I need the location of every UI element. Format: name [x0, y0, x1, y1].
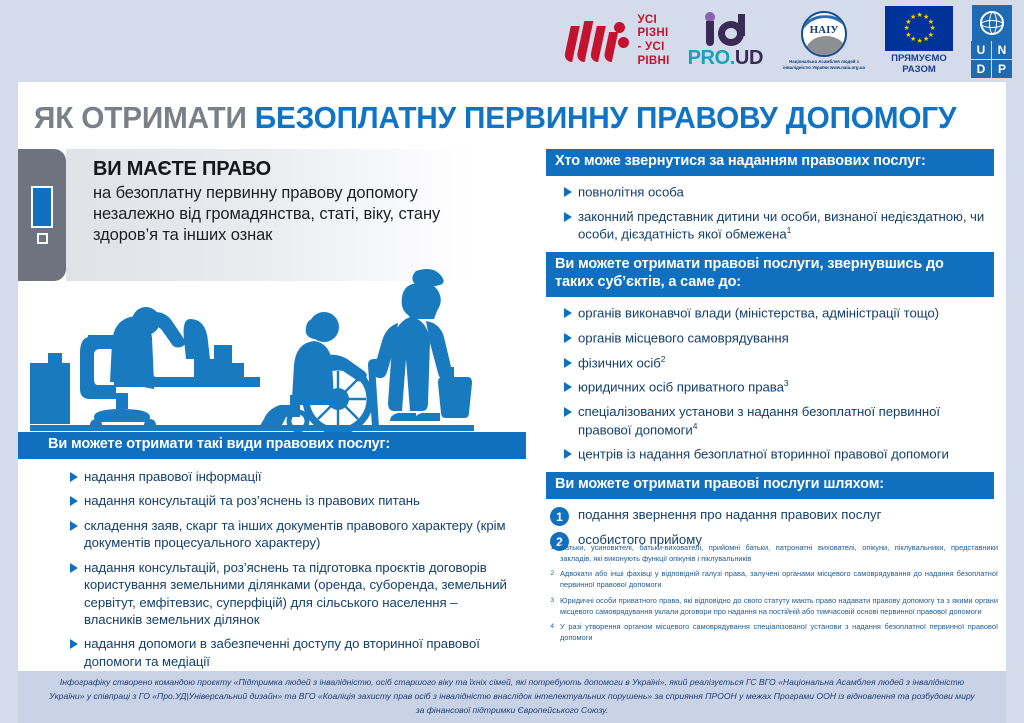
- list-item: повнолітня особа: [564, 183, 994, 201]
- providers-list: органів виконавчої влади (міністерства, …: [546, 304, 994, 463]
- footnote-text: Батьки, усиновителі, батьки-вихователі, …: [560, 543, 998, 564]
- illustration-silhouettes: [18, 259, 526, 434]
- footnote-ref: 2: [661, 354, 666, 364]
- footnote-index: 2: [546, 569, 554, 590]
- triangle-bullet-icon: [564, 358, 572, 368]
- triangle-bullet-icon: [564, 449, 572, 459]
- undp-letter-d: D: [971, 60, 991, 78]
- list-item-text: органів виконавчої влади (міністерства, …: [578, 305, 939, 320]
- eu-star-icon: ★: [928, 20, 933, 25]
- un-globe-icon: [972, 5, 1012, 41]
- page-title-blue: БЕЗОПЛАТНУ ПЕРВИННУ ПРАВОВУ ДОПОМОГУ: [255, 100, 957, 135]
- list-item-label: спеціалізованих установи з надання безоп…: [578, 403, 994, 438]
- footnote-index: 1: [546, 543, 554, 564]
- logo-bar: УСІ РІЗНІ - УСІ РІВНІ PRO.UD НАІУ Націон…: [0, 0, 1024, 82]
- undp-letter-u: U: [971, 41, 991, 59]
- list-item: надання консультацій та роз’яснень із пр…: [70, 492, 518, 509]
- undp-letters: U N D P: [971, 41, 1012, 78]
- hero-body: на безоплатну первинну правову допомогу …: [93, 183, 468, 246]
- footer-band: Інфографіку створено командою проєкту «П…: [18, 671, 1006, 723]
- eu-caption-line-2: РАЗОМ: [891, 65, 947, 76]
- footnote-ref: 1: [787, 225, 792, 235]
- list-item-label: органів виконавчої влади (міністерства, …: [578, 304, 939, 322]
- footnote-text: Юридичні особи приватного права, які від…: [560, 596, 998, 617]
- eu-star-icon: ★: [910, 15, 915, 20]
- pro-ud-text-ud: UD: [735, 47, 763, 69]
- who-can-apply-header: Хто може звернутися за наданням правових…: [546, 149, 994, 176]
- triangle-bullet-icon: [70, 639, 78, 649]
- list-item: надання допомоги в забезпеченні доступу …: [70, 635, 518, 670]
- logo-pro-ud: PRO.UD: [688, 12, 763, 70]
- triangle-bullet-icon: [564, 308, 572, 318]
- list-item-label: юридичних осіб приватного права3: [578, 378, 789, 396]
- left-column: ВИ МАЄТЕ ПРАВО на безоплатну первинну пр…: [18, 149, 526, 694]
- list-item-text: центрів із надання безоплатної вторинної…: [578, 447, 949, 462]
- logo-undp: U N D P: [971, 5, 1012, 78]
- naiu-abbr: НАІУ: [803, 24, 845, 36]
- list-item: законний представник дитини чи особи, ви…: [564, 208, 994, 243]
- list-item-text: законний представник дитини чи особи, ви…: [578, 209, 984, 242]
- how-to-apply-header: Ви можете отримати правові послуги шляхо…: [546, 472, 994, 499]
- eu-flag-icon: ★★★★★★★★★★★★: [885, 6, 953, 51]
- logo-eu: ★★★★★★★★★★★★ ПРЯМУЄМО РАЗОМ: [885, 6, 953, 76]
- undp-letter-p: P: [992, 60, 1012, 78]
- usi-rizni-wordmark: УСІ РІЗНІ - УСІ РІВНІ: [637, 14, 669, 68]
- naiu-caption: Національна Асамблея людей з інвалідніст…: [781, 59, 867, 70]
- poster-card: ЯК ОТРИМАТИ БЕЗОПЛАТНУ ПЕРВИННУ ПРАВОВУ …: [18, 82, 1006, 707]
- footnote-index: 4: [546, 622, 554, 643]
- list-item-text: фізичних осіб: [578, 355, 661, 370]
- list-item-text: органів місцевого самоврядування: [578, 330, 789, 345]
- list-item: 1 подання звернення про надання правових…: [550, 506, 994, 526]
- footnotes: 1 Батьки, усиновителі, батьки-вихователі…: [546, 543, 998, 649]
- usi-line-1: УСІ: [637, 14, 669, 28]
- left-services-section: Ви можете отримати такі види правових по…: [48, 432, 526, 677]
- left-services-list: надання правової інформації надання конс…: [48, 468, 526, 670]
- eu-star-icon: ★: [917, 13, 922, 18]
- how-to-apply-section: Ви можете отримати правові послуги шляхо…: [546, 472, 994, 551]
- providers-section: Ви можете отримати правові послуги, звер…: [546, 252, 994, 463]
- list-item: спеціалізованих установи з надання безоп…: [564, 403, 994, 438]
- triangle-bullet-icon: [564, 333, 572, 343]
- triangle-bullet-icon: [564, 187, 572, 197]
- usi-line-3: - УСІ: [637, 41, 669, 55]
- triangle-bullet-icon: [564, 407, 572, 417]
- footnote-index: 3: [546, 596, 554, 617]
- providers-header: Ви можете отримати правові послуги, звер…: [546, 252, 994, 297]
- pro-ud-text-pro: PRO.: [688, 47, 735, 69]
- number-badge: 1: [550, 507, 569, 526]
- triangle-bullet-icon: [70, 521, 78, 531]
- footnote: 2 Адвокати або інші фахівці у відповідні…: [546, 569, 998, 590]
- pro-ud-mark-icon: [699, 12, 751, 46]
- triangle-bullet-icon: [70, 563, 78, 573]
- usi-line-4: РІВНІ: [637, 55, 669, 69]
- usi-rizni-mark-icon: [567, 18, 631, 64]
- eu-star-icon: ★: [930, 26, 935, 31]
- eu-star-icon: ★: [904, 26, 909, 31]
- left-section-header: Ви можете отримати такі види правових по…: [18, 432, 526, 459]
- list-item-label: надання консультацій, роз’яснень та підг…: [84, 559, 518, 629]
- triangle-bullet-icon: [70, 472, 78, 482]
- footnote: 4 У разі утворення органом місцевого сам…: [546, 622, 998, 643]
- naiu-emblem-icon: НАІУ: [801, 11, 847, 57]
- list-item-label: надання консультацій та роз’яснень із пр…: [84, 492, 420, 509]
- infographic-poster: УСІ РІЗНІ - УСІ РІВНІ PRO.UD НАІУ Націон…: [0, 0, 1024, 723]
- undp-letter-n: N: [992, 41, 1012, 59]
- footnote-ref: 3: [784, 378, 789, 388]
- eu-caption: ПРЯМУЄМО РАЗОМ: [891, 54, 947, 76]
- list-item-label: органів місцевого самоврядування: [578, 329, 789, 347]
- list-item-label: фізичних осіб2: [578, 354, 665, 372]
- list-item-label: повнолітня особа: [578, 183, 684, 201]
- list-item: складення заяв, скарг та інших документі…: [70, 517, 518, 552]
- eu-star-icon: ★: [905, 33, 910, 38]
- usi-line-2: РІЗНІ: [637, 27, 669, 41]
- hero-lead: ВИ МАЄТЕ ПРАВО: [93, 157, 468, 181]
- eu-star-icon: ★: [917, 39, 922, 44]
- list-item: центрів із надання безоплатної вторинної…: [564, 445, 994, 463]
- list-item: надання консультацій, роз’яснень та підг…: [70, 559, 518, 629]
- list-item-label: подання звернення про надання правових п…: [578, 506, 881, 523]
- right-column: Хто може звернутися за наданням правових…: [546, 149, 994, 560]
- logo-usi-rizni-usi-rivni: УСІ РІЗНІ - УСІ РІВНІ: [567, 14, 669, 68]
- list-item-label: надання допомоги в забезпеченні доступу …: [84, 635, 518, 670]
- eu-star-icon: ★: [923, 37, 928, 42]
- pro-ud-wordmark: PRO.UD: [688, 47, 763, 70]
- footnote-ref: 4: [693, 421, 698, 431]
- list-item: юридичних осіб приватного права3: [564, 378, 994, 396]
- list-item-label: центрів із надання безоплатної вторинної…: [578, 445, 949, 463]
- list-item-label: складення заяв, скарг та інших документі…: [84, 517, 518, 552]
- who-can-apply-list: повнолітня особа законний представник ди…: [546, 183, 994, 243]
- page-title: ЯК ОТРИМАТИ БЕЗОПЛАТНУ ПЕРВИННУ ПРАВОВУ …: [34, 100, 956, 136]
- triangle-bullet-icon: [564, 382, 572, 392]
- triangle-bullet-icon: [70, 496, 78, 506]
- list-item: фізичних осіб2: [564, 354, 994, 372]
- list-item-label: законний представник дитини чи особи, ви…: [578, 208, 994, 243]
- triangle-bullet-icon: [564, 212, 572, 222]
- footnote: 1 Батьки, усиновителі, батьки-вихователі…: [546, 543, 998, 564]
- logo-naiu: НАІУ Національна Асамблея людей з інвалі…: [781, 11, 867, 70]
- list-item: органів місцевого самоврядування: [564, 329, 994, 347]
- footnote: 3 Юридичні особи приватного права, які в…: [546, 596, 998, 617]
- who-can-apply-section: Хто може звернутися за наданням правових…: [546, 149, 994, 243]
- footnote-text: Адвокати або інші фахівці у відповідній …: [560, 569, 998, 590]
- list-item-text: юридичних осіб приватного права: [578, 380, 784, 395]
- list-item-label: надання правової інформації: [84, 468, 261, 485]
- list-item-text: спеціалізованих установи з надання безоп…: [578, 404, 940, 437]
- page-title-grey: ЯК ОТРИМАТИ: [34, 100, 247, 135]
- footnote-text: У разі утворення органом місцевого самов…: [560, 622, 998, 643]
- footer-credits: Інфографіку створено командою проєкту «П…: [47, 676, 977, 717]
- list-item-text: повнолітня особа: [578, 184, 684, 199]
- list-item: надання правової інформації: [70, 468, 518, 485]
- list-item: органів виконавчої влади (міністерства, …: [564, 304, 994, 322]
